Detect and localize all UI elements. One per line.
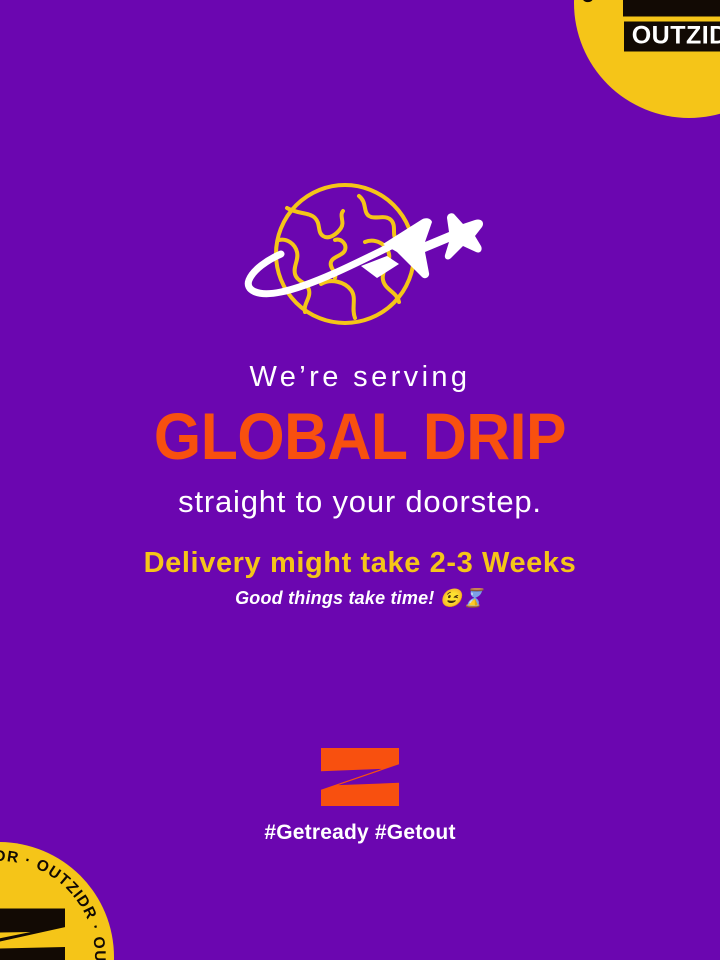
delivery-note: Good things take time! 😉⌛ xyxy=(0,588,720,610)
copy-eyebrow: We’re serving xyxy=(0,362,720,394)
outzidr-z-logo-icon xyxy=(0,909,65,960)
badge-core: OUTZIDR xyxy=(614,0,720,52)
promo-poster: OUTZIDR · OUTZIDR · OUTZIDR · OUTZIDR · … xyxy=(0,0,720,960)
brand-z-logo-icon xyxy=(321,748,399,806)
brand-badge-bottom-left: OUTZIDR · OUTZIDR · OUTZIDR · OUTZIDR · … xyxy=(0,842,114,960)
copy-headline: GLOBAL DRIP xyxy=(29,402,691,471)
globe-icon xyxy=(276,185,414,323)
delivery-headline: Delivery might take 2-3 Weeks xyxy=(0,548,720,580)
badge-wordmark: OUTZIDR xyxy=(624,22,720,52)
badge-core: OUTZIDR xyxy=(0,909,74,960)
airplane-icon xyxy=(361,213,483,278)
footer-brand-block: #Getready #Getout xyxy=(0,748,720,845)
globe-plane-illustration xyxy=(235,178,485,338)
brand-badge-top-right: OUTZIDR · OUTZIDR · OUTZIDR · OUTZIDR · … xyxy=(574,0,720,118)
footer-hashtags: #Getready #Getout xyxy=(264,821,455,845)
main-copy-block: We’re serving GLOBAL DRIP straight to yo… xyxy=(0,362,720,519)
outzidr-z-logo-icon xyxy=(623,0,720,17)
hero-art-svg xyxy=(235,178,485,338)
copy-subline: straight to your doorstep. xyxy=(0,485,720,519)
